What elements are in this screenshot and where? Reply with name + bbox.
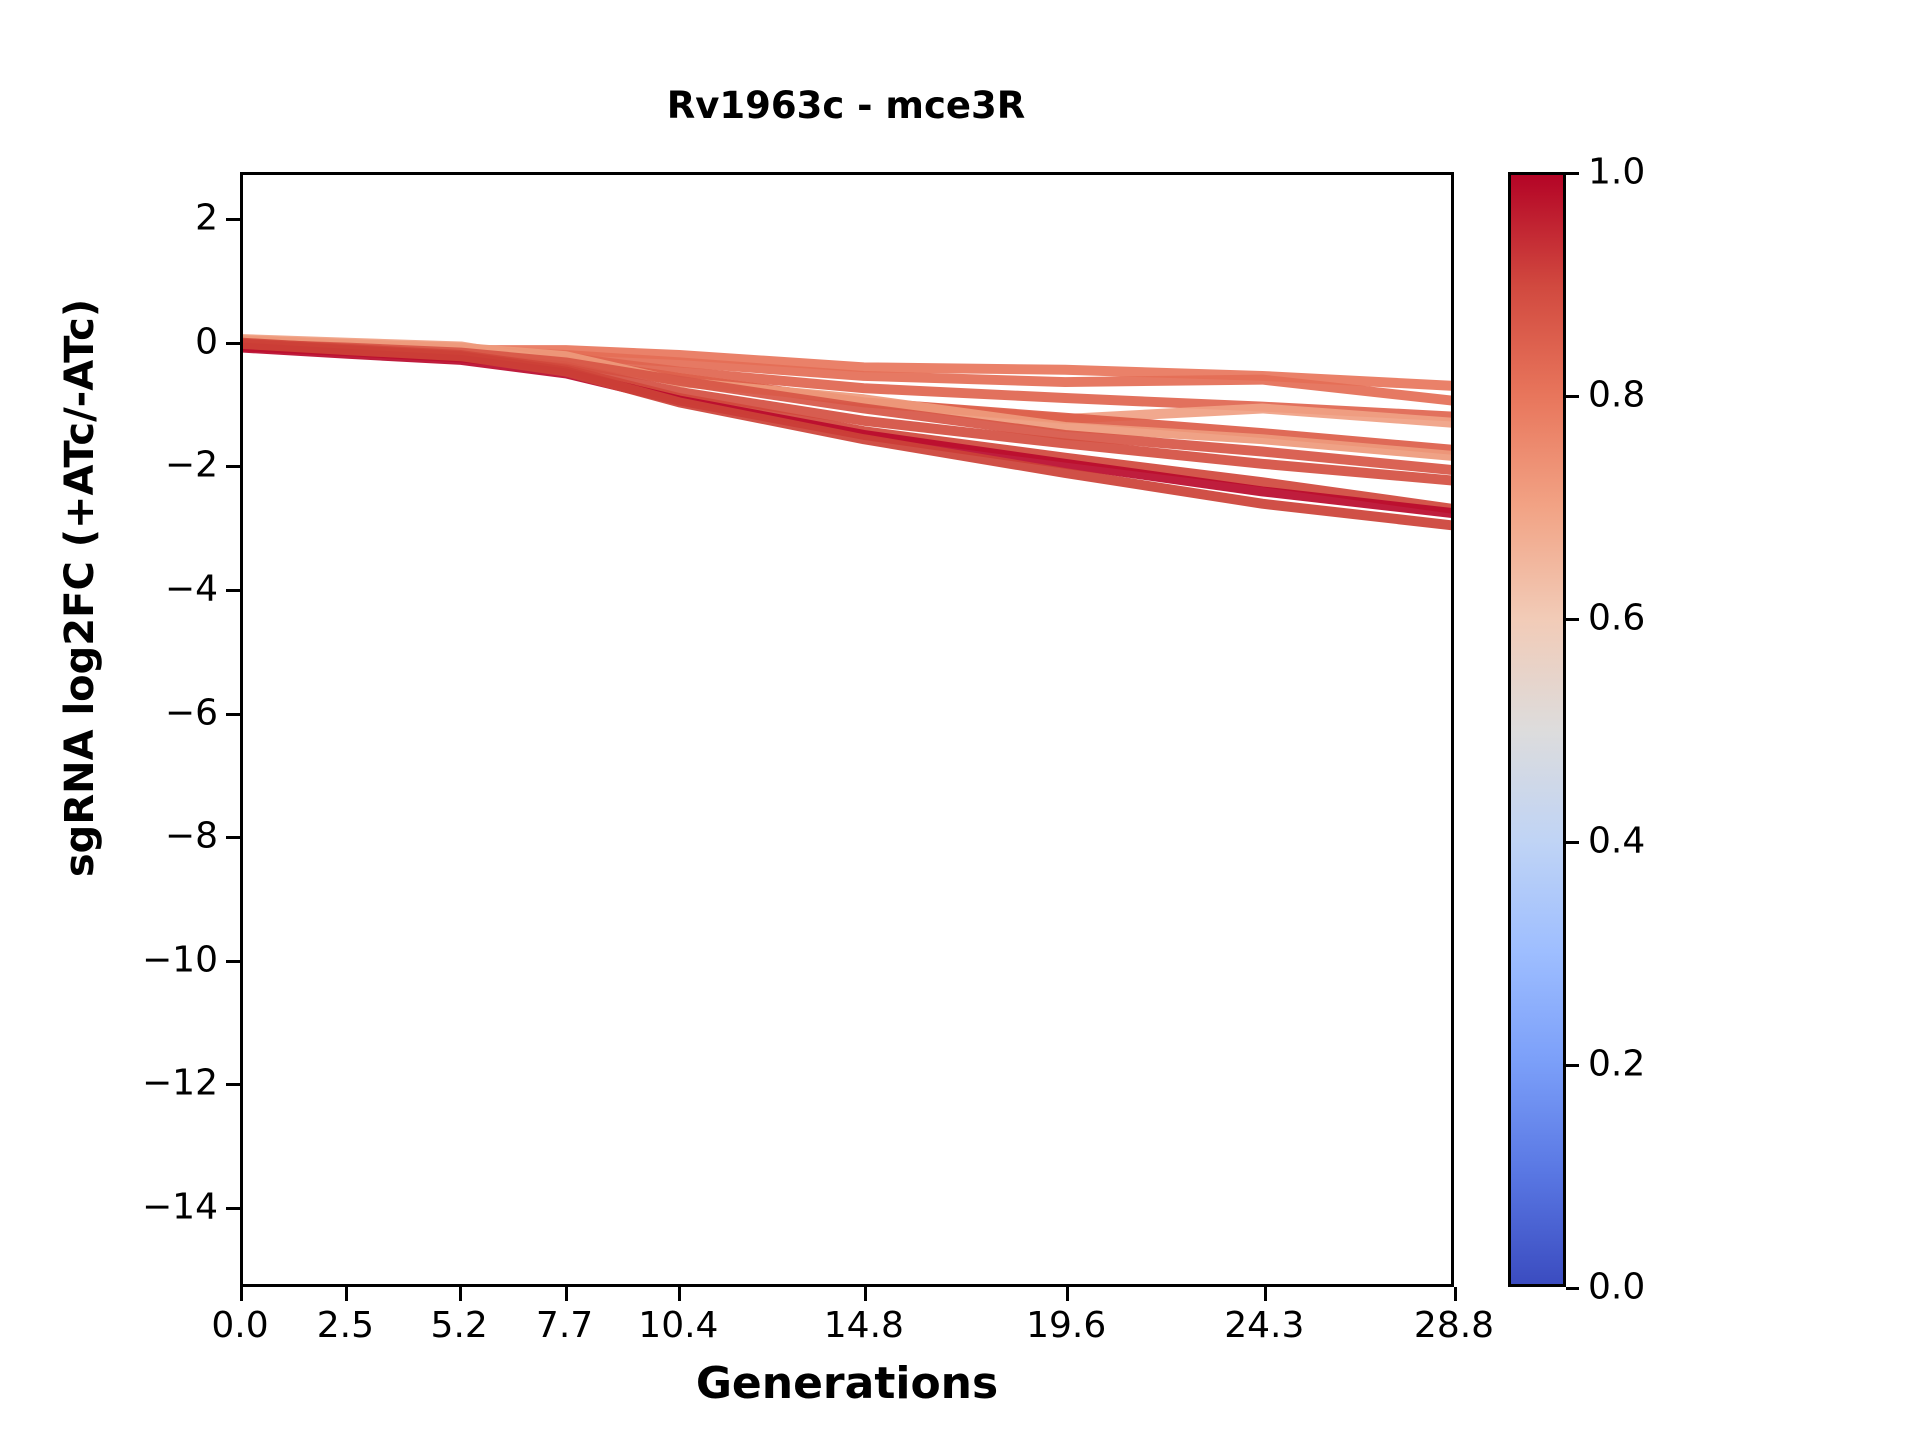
y-tick-mark [226, 465, 240, 468]
colorbar-gradient [1508, 172, 1566, 1287]
x-tick-label: 24.3 [1224, 1305, 1304, 1346]
x-tick-label: 5.2 [431, 1305, 488, 1346]
y-tick-label: −14 [142, 1186, 218, 1227]
y-tick-label: −12 [142, 1063, 218, 1104]
colorbar-tick-mark [1566, 1287, 1579, 1290]
colorbar-tick-label: 1.0 [1588, 152, 1645, 193]
y-tick-label: −10 [142, 939, 218, 980]
x-tick-label: 14.8 [824, 1305, 904, 1346]
y-tick-label: −6 [165, 692, 218, 733]
colorbar-tick-label: 0.4 [1588, 821, 1645, 862]
x-tick-label: 2.5 [317, 1305, 374, 1346]
y-tick-mark [226, 1207, 240, 1210]
x-tick-mark [864, 1287, 867, 1301]
colorbar-tick-mark [1566, 841, 1579, 844]
y-tick-mark [226, 836, 240, 839]
colorbar-tick-label: 0.6 [1588, 598, 1645, 639]
x-tick-mark [1264, 1287, 1267, 1301]
colorbar-tick-labels: 0.00.20.40.60.81.0 [1566, 172, 1706, 1287]
x-axis-tick-marks [240, 1287, 1454, 1307]
colorbar-tick-mark [1566, 618, 1579, 621]
colorbar-tick-label: 0.0 [1588, 1267, 1645, 1308]
x-tick-label: 28.8 [1414, 1305, 1494, 1346]
y-tick-label: −2 [165, 445, 218, 486]
x-tick-mark [459, 1287, 462, 1301]
x-axis-label: Generations [240, 1358, 1454, 1409]
x-axis-tick-labels: 0.02.55.27.710.414.819.624.328.8 [240, 1305, 1454, 1355]
x-tick-mark [240, 1287, 243, 1301]
colorbar-tick-mark [1566, 395, 1579, 398]
figure-canvas: Rv1963c - mce3R sgRNA log2FC (+ATc/-ATc)… [0, 0, 1920, 1440]
x-tick-mark [345, 1287, 348, 1301]
x-tick-mark [565, 1287, 568, 1301]
colorbar [1508, 172, 1566, 1287]
y-tick-mark [226, 342, 240, 345]
y-tick-mark [226, 589, 240, 592]
x-tick-mark [678, 1287, 681, 1301]
line-series-group [243, 175, 1451, 1284]
x-tick-mark [1454, 1287, 1457, 1301]
y-tick-mark [226, 960, 240, 963]
y-axis-tick-labels: 20−2−4−6−8−10−12−14 [100, 172, 218, 1287]
y-tick-label: 2 [195, 198, 218, 239]
x-tick-label: 0.0 [211, 1305, 268, 1346]
y-tick-mark [226, 1083, 240, 1086]
x-tick-label: 7.7 [536, 1305, 593, 1346]
y-tick-mark [226, 218, 240, 221]
page-title: Rv1963c - mce3R [240, 84, 1452, 127]
y-tick-label: 0 [195, 321, 218, 362]
colorbar-tick-label: 0.8 [1588, 375, 1645, 416]
plot-area [240, 172, 1454, 1287]
y-tick-label: −8 [165, 816, 218, 857]
colorbar-tick-mark [1566, 1064, 1579, 1067]
colorbar-tick-mark [1566, 172, 1579, 175]
y-tick-mark [226, 713, 240, 716]
y-tick-label: −4 [165, 568, 218, 609]
x-tick-mark [1066, 1287, 1069, 1301]
x-tick-label: 10.4 [638, 1305, 718, 1346]
x-tick-label: 19.6 [1026, 1305, 1106, 1346]
colorbar-tick-label: 0.2 [1588, 1044, 1645, 1085]
